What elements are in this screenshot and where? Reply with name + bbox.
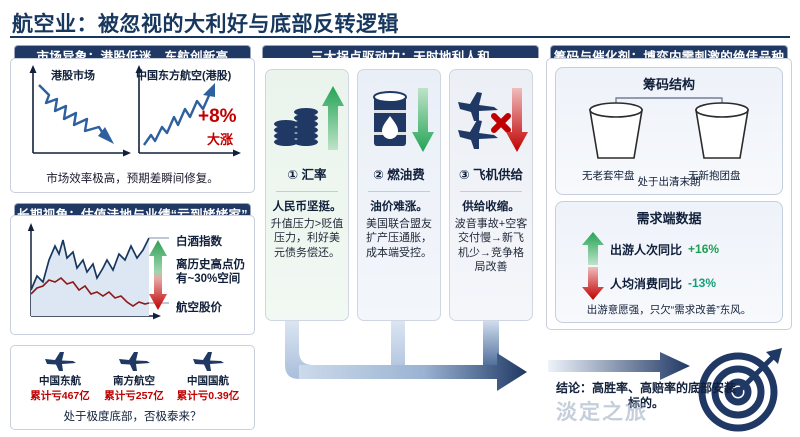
driver-icon-wrap-supply bbox=[450, 70, 532, 162]
gap-note-line2: 有~30%空间 bbox=[176, 272, 245, 286]
airline-losses-footer: 处于极度底部，否极泰来？ bbox=[11, 408, 254, 424]
chip-structure-title: 筹码结构 bbox=[556, 74, 782, 93]
airline-stat-1: 南方航空 累计亏257亿 bbox=[95, 350, 173, 403]
card-divider bbox=[368, 191, 430, 192]
pct-change-value: +8% bbox=[198, 107, 237, 126]
airline-name: 南方航空 bbox=[95, 373, 173, 388]
airline-loss: 累计亏467亿 bbox=[21, 388, 99, 403]
arrow-up-green-icon bbox=[322, 86, 346, 152]
demand-value-spend: -13% bbox=[688, 276, 716, 290]
title-divider bbox=[10, 36, 790, 38]
airline-loss: 累计亏257亿 bbox=[95, 388, 173, 403]
oil-barrel-icon bbox=[370, 88, 410, 150]
panel-three-drivers: ① 汇率 人民币坚挺。 升值压力>贬值压力，利好美元债务偿还。 bbox=[258, 58, 543, 430]
airplane-icon bbox=[43, 350, 77, 372]
demand-data-card: 需求端数据 出游人次同比 +16% 人均消费同比 bbox=[555, 201, 783, 323]
airline-stat-0: 中国东航 累计亏467亿 bbox=[21, 350, 99, 403]
demand-row-spend: 人均消费同比 -13% bbox=[582, 266, 716, 300]
arrow-down-red-icon bbox=[506, 86, 530, 152]
card-divider bbox=[276, 191, 338, 192]
infographic-page: 航空业：被忽视的大利好与底部反转逻辑 市场异象：港股低迷，东航创新高 港股市场 … bbox=[0, 0, 800, 437]
demand-label-spend: 人均消费同比 bbox=[610, 275, 682, 292]
arrow-down-red-icon bbox=[582, 266, 604, 300]
driver-icon-wrap-fuel bbox=[358, 70, 440, 162]
demand-data-footer: 出游意愿强，只欠“需求改善”东风。 bbox=[556, 302, 782, 317]
driver-title-fx: ① 汇率 bbox=[266, 164, 348, 183]
series-label-baijiu-index: 白酒指数 bbox=[176, 233, 222, 249]
pct-change-caption: 大涨 bbox=[207, 129, 233, 148]
panel-airline-losses: 中国东航 累计亏467亿 南方航空 累计亏257亿 中国国航 累计亏0.39亿 … bbox=[10, 345, 255, 430]
gap-note-line1: 离历史高点仍 bbox=[176, 258, 245, 272]
driver-card-aircraft-supply[interactable]: ③ 飞机供给 供给收缩。 波音事故+空客交付慢→新飞机少→竞争格局改善 bbox=[449, 69, 533, 321]
driver-lead-fuel: 油价难涨。 bbox=[358, 198, 440, 214]
converging-flow-arrow-icon bbox=[259, 321, 559, 401]
demand-data-title: 需求端数据 bbox=[556, 208, 782, 227]
demand-value-trips: +16% bbox=[688, 242, 719, 256]
driver-card-fx[interactable]: ① 汇率 人民币坚挺。 升值压力>贬值压力，利好美元债务偿还。 bbox=[265, 69, 349, 321]
demand-row-trips: 出游人次同比 +16% bbox=[582, 232, 719, 266]
market-anomaly-caption: 市场效率极高，预期差瞬间修复。 bbox=[11, 170, 254, 186]
airplane-icon bbox=[191, 350, 225, 372]
panel-long-term-view: 白酒指数 航空股价 离历史高点仍 有~30%空间 bbox=[10, 215, 255, 335]
two-buckets-diagram bbox=[572, 98, 768, 168]
driver-icon-wrap-fx bbox=[266, 70, 348, 162]
driver-body-fx: 升值压力>贬值压力，利好美元债务偿还。 bbox=[266, 217, 348, 260]
chip-structure-footer: 处于出清末期 bbox=[556, 174, 782, 189]
panel-market-anomaly: 港股市场 中国东方航空(港股) +8% 大涨 市场效率极高，预期差瞬间修复。 bbox=[10, 58, 255, 193]
airline-loss: 累计亏0.39亿 bbox=[169, 388, 247, 403]
airline-name: 中国国航 bbox=[169, 373, 247, 388]
driver-card-fuel[interactable]: ② 燃油费 油价难涨。 美国联合盟友扩产压通胀，成本端受控。 bbox=[357, 69, 441, 321]
chip-structure-card: 筹码结构 无老套牢盘 无新抱团盘 处于出清末期 bbox=[555, 67, 783, 195]
coins-stack-icon bbox=[272, 92, 320, 148]
driver-lead-fx: 人民币坚挺。 bbox=[266, 198, 348, 214]
airline-stat-2: 中国国航 累计亏0.39亿 bbox=[169, 350, 247, 403]
driver-body-fuel: 美国联合盟友扩产压通胀，成本端受控。 bbox=[358, 217, 440, 260]
arrow-down-green-icon bbox=[412, 86, 436, 152]
driver-title-supply: ③ 飞机供给 bbox=[450, 164, 532, 183]
airline-name: 中国东航 bbox=[21, 373, 99, 388]
driver-title-fuel: ② 燃油费 bbox=[358, 164, 440, 183]
card-divider bbox=[460, 191, 522, 192]
series-label-airline-price: 航空股价 bbox=[176, 299, 222, 315]
arrow-up-green-icon bbox=[582, 232, 604, 266]
airplane-icon bbox=[117, 350, 151, 372]
conclusion-text: 结论：高胜率、高赔率的底部安装标的。 bbox=[556, 381, 736, 411]
hk-market-declining-chart bbox=[19, 65, 131, 165]
demand-label-trips: 出游人次同比 bbox=[610, 241, 682, 258]
panel-chips-catalyst: 筹码结构 无老套牢盘 无新抱团盘 处于出清末期 需求端数据 bbox=[546, 58, 792, 330]
valuation-gap-double-arrow-icon bbox=[147, 240, 171, 310]
driver-lead-supply: 供给收缩。 bbox=[450, 198, 532, 214]
driver-body-supply: 波音事故+空客交付慢→新飞机少→竞争格局改善 bbox=[450, 217, 532, 274]
page-title: 航空业：被忽视的大利好与底部反转逻辑 bbox=[12, 8, 399, 38]
